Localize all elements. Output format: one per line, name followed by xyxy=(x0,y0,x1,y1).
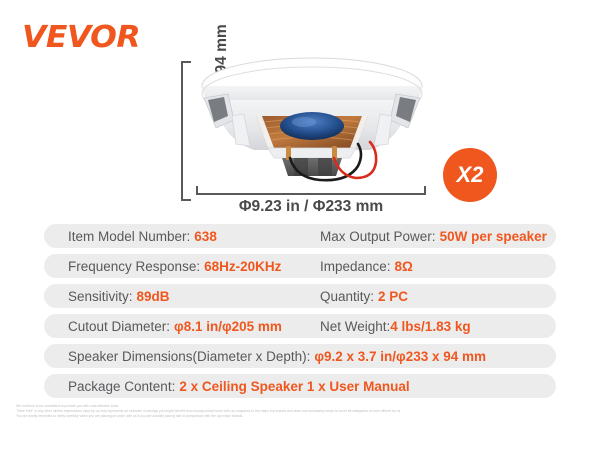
spec-key: Speaker Dimensions(Diameter x Depth): xyxy=(68,349,310,364)
spec-row: Frequency Response:68Hz-20KHzImpedance:8… xyxy=(44,254,556,278)
spec-value: 4 lbs/1.83 kg xyxy=(390,319,470,334)
spec-key: Frequency Response: xyxy=(68,259,200,274)
height-dimension-bracket xyxy=(181,61,191,201)
spec-row: Cutout Diameter:φ8.1 in/φ205 mmNet Weigh… xyxy=(44,314,556,338)
spec-cell: Net Weight:4 lbs/1.83 kg xyxy=(320,319,556,334)
spec-cell: Sensitivity:89dB xyxy=(68,289,320,304)
spec-key: Item Model Number: xyxy=(68,229,190,244)
spec-cell: Package Content:2 x Ceiling Speaker 1 x … xyxy=(68,379,556,394)
spec-row: Sensitivity:89dBQuantity:2 PC xyxy=(44,284,556,308)
spec-cell: Quantity:2 PC xyxy=(320,289,556,304)
product-hero: 3.7in / 94 mm xyxy=(0,48,600,218)
spec-row: Item Model Number:638Max Output Power:50… xyxy=(44,224,556,248)
spec-value: 50W per speaker xyxy=(440,229,547,244)
disclaimer-line: You are kindly reminded to verify carefu… xyxy=(16,414,586,419)
spec-key: Sensitivity: xyxy=(68,289,133,304)
spec-cell: Cutout Diameter:φ8.1 in/φ205 mm xyxy=(68,319,320,334)
spec-value: φ8.1 in/φ205 mm xyxy=(174,319,282,334)
spec-key: Package Content: xyxy=(68,379,175,394)
spec-value: 638 xyxy=(194,229,217,244)
diameter-dimension-bracket xyxy=(196,186,426,195)
spec-value: 2 PC xyxy=(378,289,408,304)
spec-key: Net Weight: xyxy=(320,319,390,334)
spec-key: Cutout Diameter: xyxy=(68,319,170,334)
spec-key: Quantity: xyxy=(320,289,374,304)
spec-row: Speaker Dimensions(Diameter x Depth):φ9.… xyxy=(44,344,556,368)
diameter-dimension-label: Φ9.23 in / Φ233 mm xyxy=(176,198,446,216)
spec-key: Max Output Power: xyxy=(320,229,436,244)
spec-cell: Speaker Dimensions(Diameter x Depth):φ9.… xyxy=(68,349,556,364)
spec-value: 89dB xyxy=(137,289,170,304)
spec-cell: Item Model Number:638 xyxy=(68,229,320,244)
spec-value: 2 x Ceiling Speaker 1 x User Manual xyxy=(179,379,409,394)
spec-cell: Impedance:8Ω xyxy=(320,259,556,274)
quantity-badge: X2 xyxy=(443,148,497,202)
disclaimer-text: We continue to be committed to provide y… xyxy=(16,404,586,420)
ceiling-speaker-image xyxy=(198,54,426,186)
spec-value: 68Hz-20KHz xyxy=(204,259,281,274)
spec-value: 8Ω xyxy=(395,259,413,274)
specification-table: Item Model Number:638Max Output Power:50… xyxy=(44,224,556,404)
spec-value: φ9.2 x 3.7 in/φ233 x 94 mm xyxy=(314,349,486,364)
spec-cell: Max Output Power:50W per speaker xyxy=(320,229,556,244)
spec-row: Package Content:2 x Ceiling Speaker 1 x … xyxy=(44,374,556,398)
spec-cell: Frequency Response:68Hz-20KHz xyxy=(68,259,320,274)
spec-key: Impedance: xyxy=(320,259,391,274)
